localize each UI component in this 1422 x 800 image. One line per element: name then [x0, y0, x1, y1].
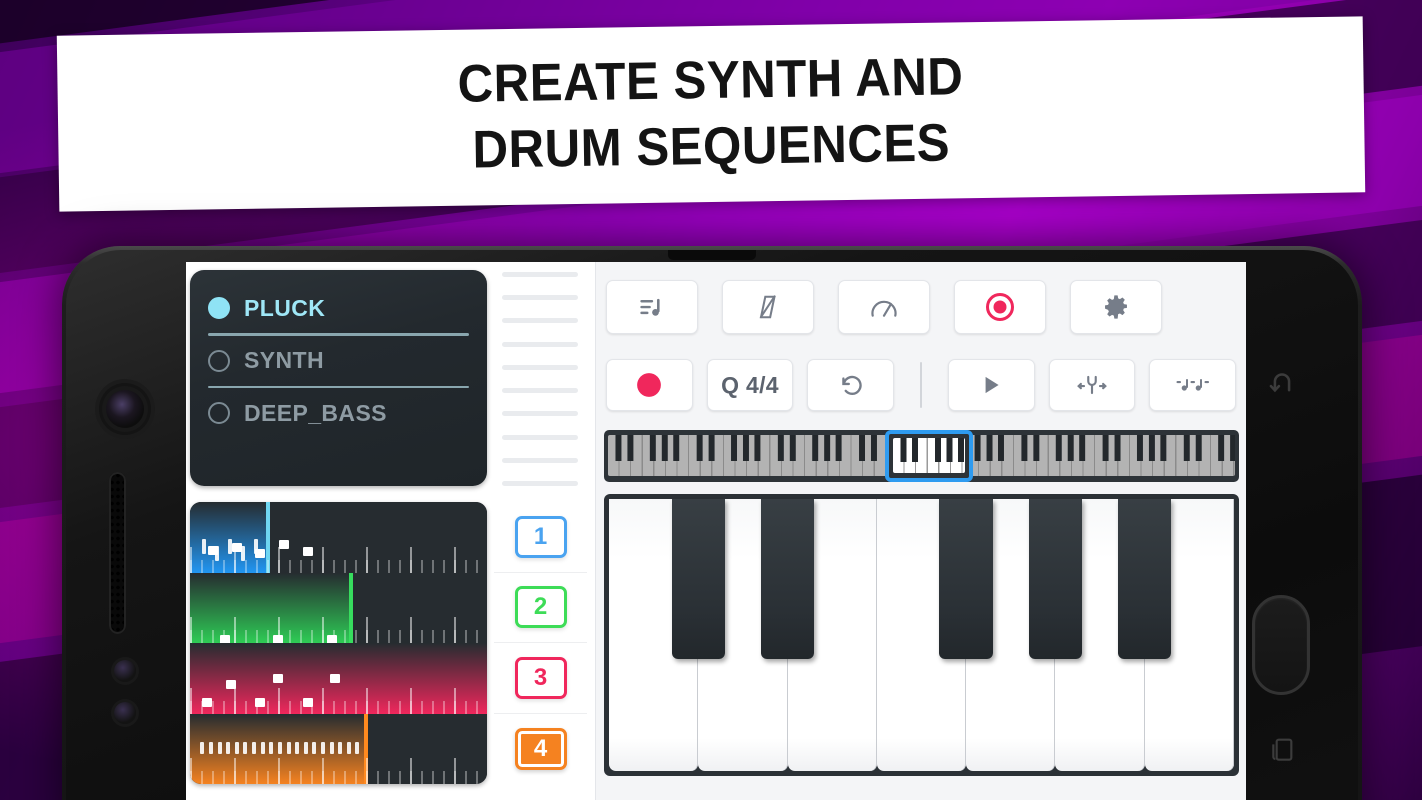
lane-ruler — [190, 688, 487, 714]
track-list-button[interactable] — [606, 280, 698, 334]
lane-note — [252, 742, 256, 755]
track-lane-4[interactable] — [190, 714, 487, 785]
lane-note — [261, 742, 265, 755]
earpiece-speaker — [668, 250, 756, 260]
pattern-cell: 4 — [494, 714, 587, 785]
lane-note — [241, 546, 245, 562]
back-icon[interactable] — [1265, 366, 1299, 400]
lane-ruler — [190, 617, 487, 643]
play-button[interactable] — [948, 359, 1035, 411]
placeholder-line — [502, 458, 578, 463]
lane-note — [330, 742, 334, 755]
lane-note — [226, 680, 236, 689]
lane-note — [303, 547, 313, 556]
lane-note — [278, 742, 282, 755]
lane-note — [215, 546, 219, 562]
tune-button[interactable] — [1049, 359, 1136, 411]
piano-black-key[interactable] — [1118, 499, 1172, 659]
placeholder-line — [502, 318, 578, 323]
tuning-fork-icon — [1076, 372, 1108, 398]
lane-note — [273, 635, 283, 643]
lane-note — [304, 742, 308, 755]
toolbar-divider — [920, 362, 922, 408]
tempo-button[interactable] — [838, 280, 930, 334]
phone-device: PLUCK SYNTH DEEP_BASS — [62, 246, 1362, 800]
placeholder-line — [502, 295, 578, 300]
pattern-button-list: 1234 — [494, 502, 587, 784]
lane-note — [254, 539, 258, 555]
lane-note — [255, 698, 265, 707]
record-arm-button[interactable] — [954, 280, 1046, 334]
undo-button[interactable] — [807, 359, 894, 411]
phone-body: PLUCK SYNTH DEEP_BASS — [66, 250, 1358, 800]
placeholder-line — [502, 481, 578, 486]
screenshot-root: CREATE SYNTH AND DRUM SEQUENCES — [0, 0, 1422, 800]
track-lane-1[interactable] — [190, 502, 487, 573]
speaker-grille — [109, 472, 126, 634]
lane-note — [312, 742, 316, 755]
placeholder-line-list — [502, 272, 578, 486]
keyboard-range-selector[interactable] — [885, 430, 973, 482]
lane-note — [200, 742, 204, 755]
lane-note — [287, 742, 291, 755]
divider — [208, 333, 469, 336]
pattern-cell: 1 — [494, 502, 587, 573]
record-button[interactable] — [606, 359, 693, 411]
placeholder-line — [502, 272, 578, 277]
lane-note — [327, 635, 337, 643]
headline-line-2: DRUM SEQUENCES — [472, 110, 950, 183]
radio-unselected-icon — [208, 350, 230, 372]
lane-note — [218, 742, 222, 755]
record-ring-icon — [985, 292, 1015, 322]
instrument-label: PLUCK — [244, 295, 325, 322]
instrument-item-synth[interactable]: SYNTH — [208, 339, 469, 383]
track-lanes-thumbnail[interactable] — [190, 502, 487, 784]
piano-black-key[interactable] — [672, 499, 726, 659]
lane-note — [232, 543, 242, 552]
recents-icon[interactable] — [1266, 732, 1298, 766]
app-screen: PLUCK SYNTH DEEP_BASS — [186, 262, 1246, 800]
lane-note — [243, 742, 247, 755]
instrument-label: SYNTH — [244, 347, 324, 374]
headline-banner: CREATE SYNTH AND DRUM SEQUENCES — [57, 16, 1365, 211]
top-toolbar — [596, 268, 1246, 346]
lane-note — [330, 674, 340, 683]
transport-toolbar: Q 4/4 — [596, 348, 1246, 422]
record-dot-icon — [634, 370, 664, 400]
right-panel: Q 4/4 — [595, 262, 1246, 800]
placeholder-line — [502, 435, 578, 440]
swing-groove-icon — [755, 293, 781, 321]
mini-keyboard-overview[interactable] — [604, 430, 1239, 482]
instrument-label: DEEP_BASS — [244, 400, 387, 427]
headline-line-1: CREATE SYNTH AND — [457, 44, 964, 118]
note-length-button[interactable] — [1149, 359, 1236, 411]
lane-note — [202, 698, 212, 707]
lane-note — [355, 742, 359, 755]
lane-note — [228, 539, 232, 555]
gear-icon — [1102, 293, 1130, 321]
piano-black-key[interactable] — [939, 499, 993, 659]
pattern-cell: 2 — [494, 573, 587, 644]
light-sensor-icon — [114, 702, 136, 724]
proximity-sensor-icon — [114, 660, 136, 682]
piano-keyboard[interactable] — [604, 494, 1239, 776]
piano-black-key[interactable] — [1029, 499, 1083, 659]
radio-selected-icon — [208, 297, 230, 319]
pattern-button-4[interactable]: 4 — [515, 728, 567, 770]
track-lane-3[interactable] — [190, 643, 487, 714]
lane-ruler — [190, 758, 487, 784]
track-list-note-icon — [638, 293, 666, 321]
pattern-cell: 3 — [494, 643, 587, 714]
selector-black-keys — [893, 438, 965, 462]
tempo-gauge-icon — [869, 293, 899, 321]
lane-note — [273, 674, 283, 683]
lane-note — [220, 635, 230, 643]
quantize-label: Q 4/4 — [721, 372, 779, 399]
note-length-icon — [1176, 373, 1210, 397]
placeholder-line — [502, 365, 578, 370]
piano-keys — [609, 499, 1234, 771]
instrument-item-pluck[interactable]: PLUCK — [208, 286, 469, 330]
lane-note — [347, 742, 351, 755]
lane-note — [235, 742, 239, 755]
lane-note — [209, 742, 213, 755]
instrument-list-panel: PLUCK SYNTH DEEP_BASS — [190, 270, 487, 486]
lane-note — [303, 698, 313, 707]
settings-button[interactable] — [1070, 280, 1162, 334]
pattern-button-1[interactable]: 1 — [515, 516, 567, 558]
lane-note — [269, 742, 273, 755]
left-panel: PLUCK SYNTH DEEP_BASS — [186, 262, 587, 800]
home-button[interactable] — [1252, 595, 1310, 695]
pattern-button-3[interactable]: 3 — [515, 657, 567, 699]
instrument-item-deep-bass[interactable]: DEEP_BASS — [208, 391, 469, 435]
lane-note — [321, 742, 325, 755]
lane-note — [202, 539, 206, 555]
lane-note — [338, 742, 342, 755]
placeholder-line — [502, 411, 578, 416]
placeholder-line — [502, 342, 578, 347]
divider — [208, 386, 469, 389]
undo-arrow-icon — [837, 371, 865, 399]
swing-groove-button[interactable] — [722, 280, 814, 334]
lane-note — [279, 540, 289, 549]
placeholder-line — [502, 388, 578, 393]
track-lane-2[interactable] — [190, 573, 487, 644]
lane-note — [226, 742, 230, 755]
front-camera-icon — [106, 390, 144, 428]
play-icon — [978, 372, 1004, 398]
piano-black-key[interactable] — [761, 499, 815, 659]
lane-note — [295, 742, 299, 755]
radio-unselected-icon — [208, 402, 230, 424]
quantize-button[interactable]: Q 4/4 — [707, 359, 794, 411]
pattern-button-2[interactable]: 2 — [515, 586, 567, 628]
